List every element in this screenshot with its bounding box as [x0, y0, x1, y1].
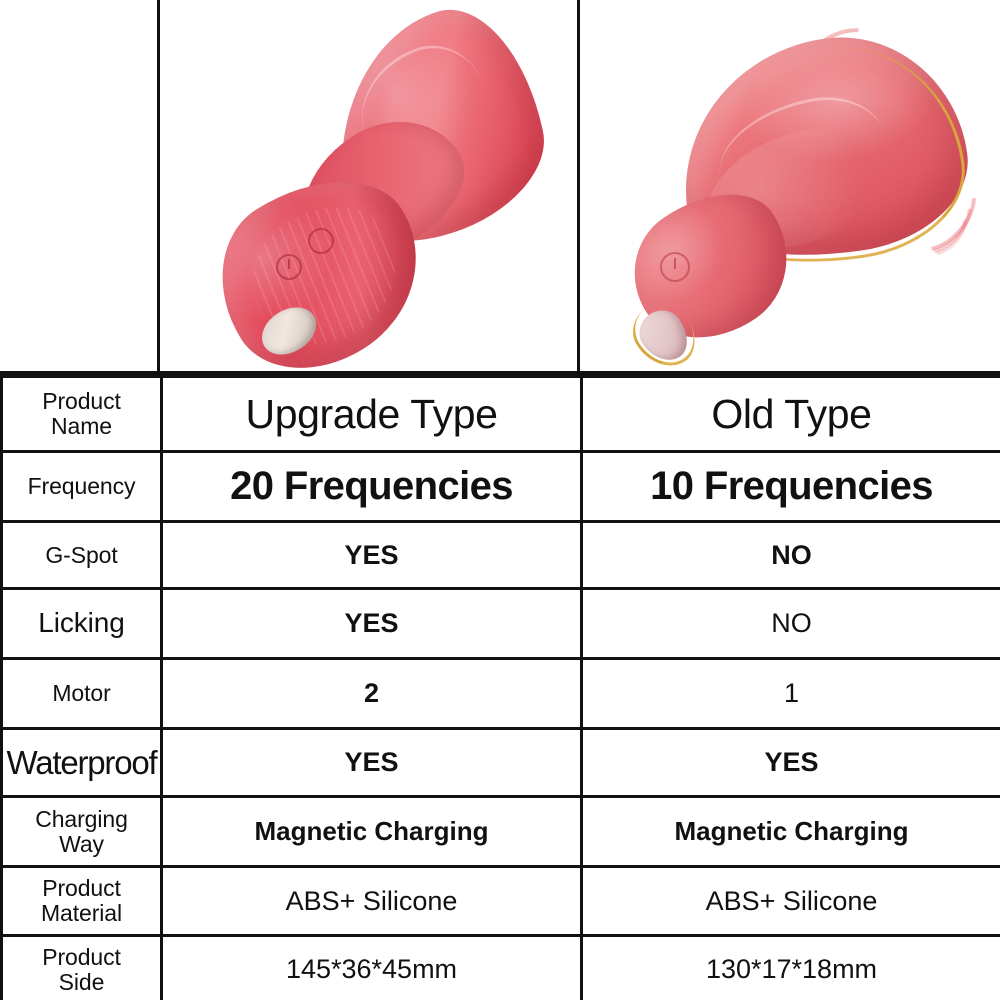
table-row: Product Name Upgrade Type Old Type — [2, 377, 1000, 452]
image-band-label-spacer — [0, 0, 160, 371]
upgrade-g-spot-value: YES — [162, 522, 582, 589]
table-row: Product Side 145*36*45mm 130*17*18mm — [2, 936, 1000, 1000]
upgrade-charging-way-value: Magnetic Charging — [162, 797, 582, 867]
old-licking-value: NO — [582, 589, 1000, 659]
upgrade-waterproof-value: YES — [162, 729, 582, 797]
old-charging-way-value: Magnetic Charging — [582, 797, 1000, 867]
row-label-motor: Motor — [2, 659, 162, 729]
upgrade-product-side-value: 145*36*45mm — [162, 936, 582, 1000]
old-frequency-value: 10 Frequencies — [582, 452, 1000, 522]
upgrade-product-image — [160, 0, 580, 371]
upgrade-device-illustration — [180, 10, 560, 365]
old-device-illustration — [594, 14, 989, 364]
upgrade-mode-button-icon — [308, 228, 334, 254]
table-row: Motor 2 1 — [2, 659, 1000, 729]
table-row: Licking YES NO — [2, 589, 1000, 659]
old-motor-value: 1 — [582, 659, 1000, 729]
table-row: Waterproof YES YES — [2, 729, 1000, 797]
power-button-icon — [276, 254, 302, 280]
upgrade-licking-value: YES — [162, 589, 582, 659]
row-label-waterproof: Waterproof — [2, 729, 162, 797]
old-product-side-value: 130*17*18mm — [582, 936, 1000, 1000]
upgrade-motor-value: 2 — [162, 659, 582, 729]
old-g-spot-value: NO — [582, 522, 1000, 589]
row-label-product-side: Product Side — [2, 936, 162, 1000]
old-product-image — [580, 0, 997, 371]
table-row: Product Material ABS+ Silicone ABS+ Sili… — [2, 867, 1000, 936]
table-row: G-Spot YES NO — [2, 522, 1000, 589]
power-button-icon — [660, 252, 690, 282]
old-product-name-value: Old Type — [582, 377, 1000, 452]
row-label-charging-way: Charging Way — [2, 797, 162, 867]
row-label-frequency: Frequency — [2, 452, 162, 522]
upgrade-frequency-value: 20 Frequencies — [162, 452, 582, 522]
row-label-product-name: Product Name — [2, 377, 162, 452]
table-row: Charging Way Magnetic Charging Magnetic … — [2, 797, 1000, 867]
row-label-licking: Licking — [2, 589, 162, 659]
row-label-g-spot: G-Spot — [2, 522, 162, 589]
upgrade-product-name-value: Upgrade Type — [162, 377, 582, 452]
old-product-material-value: ABS+ Silicone — [582, 867, 1000, 936]
row-label-product-material: Product Material — [2, 867, 162, 936]
upgrade-product-material-value: ABS+ Silicone — [162, 867, 582, 936]
comparison-table: Product Name Upgrade Type Old Type Frequ… — [0, 375, 1000, 1000]
old-waterproof-value: YES — [582, 729, 1000, 797]
product-image-band — [0, 0, 1000, 375]
table-row: Frequency 20 Frequencies 10 Frequencies — [2, 452, 1000, 522]
product-comparison-sheet: Product Name Upgrade Type Old Type Frequ… — [0, 0, 1000, 1000]
